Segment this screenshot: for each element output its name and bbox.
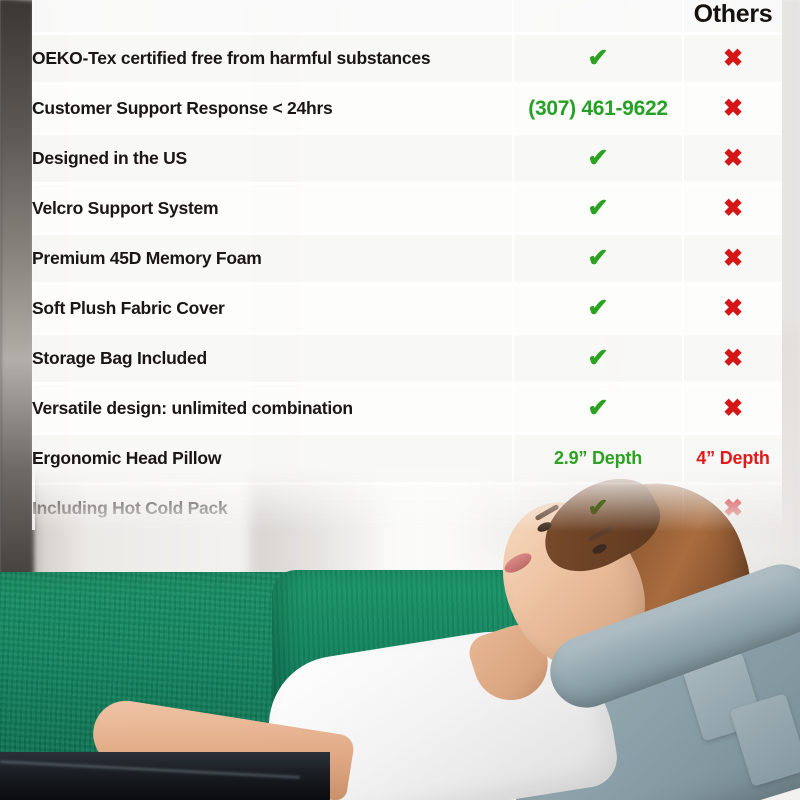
cell-ours: ✔ [513,184,683,234]
red-cross-icon: ✖ [723,397,743,421]
green-check-icon: ✔ [588,296,609,321]
cell-others: ✖ [683,484,782,533]
feature-label: Premium 45D Memory Foam [32,234,513,284]
window-edge [0,0,34,600]
red-cross-icon: ✖ [723,247,743,271]
green-check-icon: ✔ [588,146,609,171]
feature-label: Versatile design: unlimited combination [32,384,513,434]
red-cross-icon: ✖ [723,347,743,371]
feature-label: Including Hot Cold Pack [32,484,513,533]
table-row: OEKO-Tex certified free from harmful sub… [32,34,782,84]
cell-ours: ✔ [513,234,683,284]
column-header-others: Others [683,0,782,34]
cell-ours: ✔ [513,384,683,434]
feature-label: Velcro Support System [32,184,513,234]
cell-others: ✖ [683,334,782,384]
green-check-icon: ✔ [588,396,609,421]
comparison-table: Others OEKO-Tex certified free from harm… [32,0,782,532]
green-check-icon: ✔ [588,346,609,371]
feature-label: Customer Support Response < 24hrs [32,84,513,134]
feature-label: Soft Plush Fabric Cover [32,284,513,334]
table-row: Soft Plush Fabric Cover✔✖ [32,284,782,334]
table-row: Customer Support Response < 24hrs(307) 4… [32,84,782,134]
table-header-row: Others [32,0,782,34]
table-row: Storage Bag Included✔✖ [32,334,782,384]
green-check-icon: ✔ [588,196,609,221]
cell-ours: ✔ [513,284,683,334]
green-check-icon: ✔ [588,496,609,521]
cell-others: ✖ [683,84,782,134]
cell-ours: ✔ [513,484,683,533]
feature-label: Ergonomic Head Pillow [32,434,513,484]
table-row: Including Hot Cold Pack✔✖ [32,484,782,533]
red-cross-icon: ✖ [723,97,743,121]
cell-others: ✖ [683,184,782,234]
table-row: Premium 45D Memory Foam✔✖ [32,234,782,284]
table-body: OEKO-Tex certified free from harmful sub… [32,34,782,533]
table-header: Others [32,0,782,34]
cell-others: ✖ [683,134,782,184]
ours-depth-value: 2.9” Depth [554,448,642,468]
cell-others: ✖ [683,284,782,334]
cell-others: ✖ [683,34,782,84]
red-cross-icon: ✖ [723,497,743,521]
cell-ours: ✔ [513,34,683,84]
table-row: Designed in the US✔✖ [32,134,782,184]
cell-others: ✖ [683,234,782,284]
table-row: Ergonomic Head Pillow2.9” Depth4” Depth [32,434,782,484]
cell-others: ✖ [683,384,782,434]
feature-label: Designed in the US [32,134,513,184]
cell-ours: (307) 461-9622 [513,84,683,134]
red-cross-icon: ✖ [723,147,743,171]
green-check-icon: ✔ [588,46,609,71]
table-row: Velcro Support System✔✖ [32,184,782,234]
red-cross-icon: ✖ [723,47,743,71]
column-header-ours [513,0,683,34]
product-comparison-image: Others OEKO-Tex certified free from harm… [0,0,800,800]
cell-ours: 2.9” Depth [513,434,683,484]
support-phone-number: (307) 461-9622 [528,97,667,120]
feature-label: Storage Bag Included [32,334,513,384]
feature-label: OEKO-Tex certified free from harmful sub… [32,34,513,84]
cell-ours: ✔ [513,134,683,184]
others-depth-value: 4” Depth [696,448,769,468]
cell-ours: ✔ [513,334,683,384]
column-header-feature [32,0,513,34]
table-row: Versatile design: unlimited combination✔… [32,384,782,434]
cell-others: 4” Depth [683,434,782,484]
red-cross-icon: ✖ [723,297,743,321]
green-check-icon: ✔ [588,246,609,271]
red-cross-icon: ✖ [723,197,743,221]
comparison-table-panel: Others OEKO-Tex certified free from harm… [32,0,782,532]
